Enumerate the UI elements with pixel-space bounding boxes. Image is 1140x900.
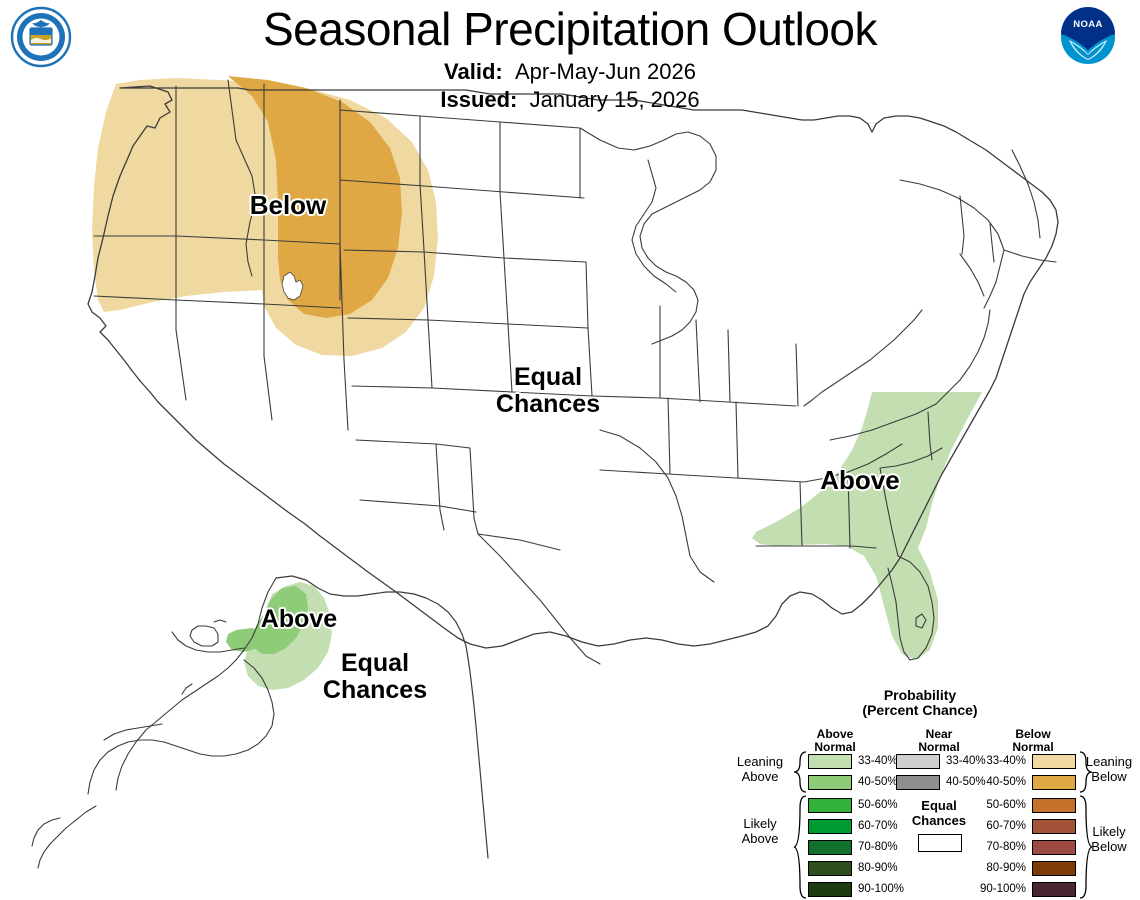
brace-likely-below — [1078, 794, 1094, 900]
map-label-equal-chances-alaska: Equal Chances — [305, 650, 445, 704]
swatch-label-below-33-40: 33-40% — [962, 754, 1026, 769]
legend-brace-leaning-above: Leaning Above — [728, 754, 792, 784]
head-near-line2: Normal — [918, 740, 959, 754]
swatch-label-below-50-60: 50-60% — [962, 798, 1026, 813]
issued-value: January 15, 2026 — [530, 87, 700, 112]
head-above-line1: Above — [817, 727, 854, 741]
swatch-label-above-33-40: 33-40% — [858, 754, 898, 769]
head-below-line1: Below — [1015, 727, 1050, 741]
swatch-below-90-100 — [1032, 882, 1076, 897]
legend-column-head-below: Below Normal — [993, 728, 1073, 754]
map-label-below: Below — [228, 191, 348, 219]
brace-leaning-above — [792, 750, 808, 798]
swatch-below-80-90 — [1032, 861, 1076, 876]
swatch-label-above-40-50: 40-50% — [858, 775, 898, 790]
brace-leaning-below — [1078, 750, 1094, 798]
swatch-label-above-70-80: 70-80% — [858, 840, 898, 855]
swatch-below-40-50 — [1032, 775, 1076, 790]
map-label-above-alaska: Above — [244, 606, 354, 633]
swatch-below-33-40 — [1032, 754, 1076, 769]
head-below-line2: Normal — [1012, 740, 1053, 754]
swatch-near-33-40 — [896, 754, 940, 769]
legend-title: Probability (Percent Chance) — [700, 688, 1140, 718]
swatch-below-50-60 — [1032, 798, 1076, 813]
map-label-equal-chances-conus: Equal Chances — [468, 364, 628, 418]
head-above-line2: Normal — [814, 740, 855, 754]
valid-row: Valid: Apr-May-Jun 2026 — [0, 58, 1140, 86]
issued-row: Issued: January 15, 2026 — [0, 86, 1140, 114]
swatch-above-70-80 — [808, 840, 852, 855]
swatch-above-80-90 — [808, 861, 852, 876]
swatch-above-50-60 — [808, 798, 852, 813]
brace-likely-above — [792, 794, 808, 900]
region-southeast-leaning-above — [752, 392, 982, 660]
legend-column-head-near: Near Normal — [903, 728, 975, 754]
swatch-label-above-50-60: 50-60% — [858, 798, 898, 813]
legend-brace-likely-above: Likely Above — [728, 816, 792, 846]
swatch-above-60-70 — [808, 819, 852, 834]
swatch-label-below-40-50: 40-50% — [962, 775, 1026, 790]
valid-label: Valid: — [444, 59, 515, 84]
swatch-above-90-100 — [808, 882, 852, 897]
subtitle-block: Valid: Apr-May-Jun 2026 Issued: January … — [0, 58, 1140, 114]
page-title: Seasonal Precipitation Outlook — [0, 2, 1140, 56]
swatch-label-below-70-80: 70-80% — [962, 840, 1026, 855]
swatch-label-below-80-90: 80-90% — [962, 861, 1026, 876]
swatch-above-33-40 — [808, 754, 852, 769]
valid-value: Apr-May-Jun 2026 — [515, 59, 696, 84]
equal-chances-swatch — [918, 834, 962, 852]
head-near-line1: Near — [926, 727, 953, 741]
swatch-label-above-80-90: 80-90% — [858, 861, 898, 876]
swatch-label-above-90-100: 90-100% — [858, 882, 904, 897]
legend-title-line2: (Percent Chance) — [862, 702, 977, 718]
equal-chances-line1: Equal — [921, 798, 956, 813]
swatch-label-above-60-70: 60-70% — [858, 819, 898, 834]
swatch-above-40-50 — [808, 775, 852, 790]
map-label-above-southeast: Above — [800, 466, 920, 494]
swatch-label-below-60-70: 60-70% — [962, 819, 1026, 834]
legend-title-line1: Probability — [884, 687, 956, 703]
swatch-below-70-80 — [1032, 840, 1076, 855]
swatch-below-60-70 — [1032, 819, 1076, 834]
issued-label: Issued: — [440, 87, 529, 112]
equal-chances-line2: Chances — [912, 813, 966, 828]
swatch-label-below-90-100: 90-100% — [956, 882, 1026, 897]
swatch-near-40-50 — [896, 775, 940, 790]
probability-legend: Probability (Percent Chance) Above Norma… — [700, 688, 1140, 886]
